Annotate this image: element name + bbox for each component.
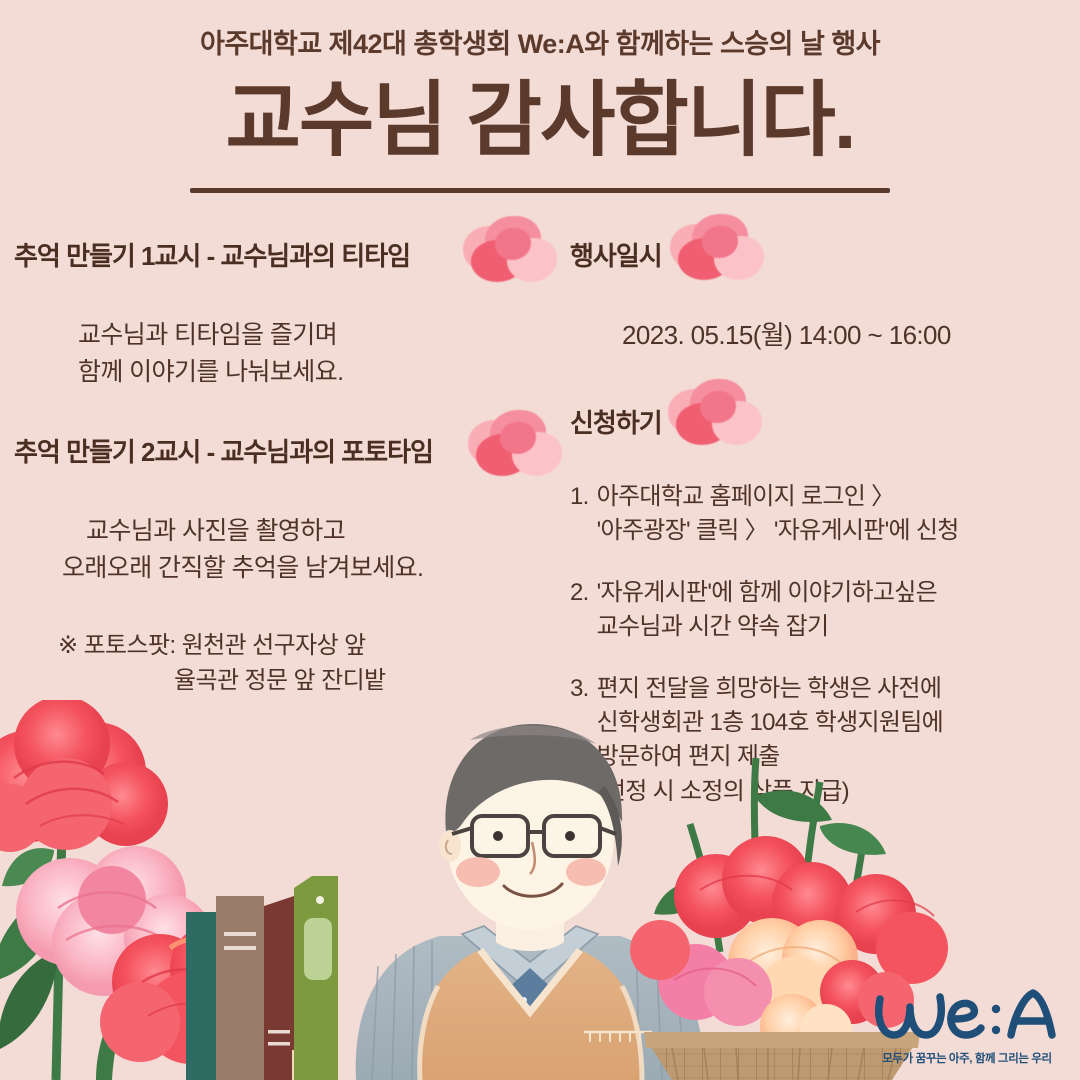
- left-column: 추억 만들기 1교시 - 교수님과의 티타임 교수님과 티타임을 즐기며 함께 …: [0, 236, 560, 698]
- session1-line-2: 함께 이야기를 나눠보세요.: [0, 354, 560, 391]
- stack-of-books: [186, 876, 338, 1080]
- datetime-value: 2023. 05.15(월) 14:00 ~ 16:00: [560, 317, 1080, 355]
- poster-title: 교수님 감사합니다.: [0, 78, 1080, 164]
- photospot-note-1: ※ 포토스팟: 원천관 선구자상 앞: [0, 628, 560, 663]
- teacher-illustration: [356, 724, 704, 1080]
- session1-heading: 추억 만들기 1교시 - 교수님과의 티타임: [14, 236, 560, 273]
- session2-heading: 추억 만들기 2교시 - 교수님과의 포토타임: [14, 432, 560, 469]
- photospot-note-2: 율곡관 정문 앞 잔디밭: [0, 663, 560, 698]
- list-item: 2. '자유게시판'에 함께 이야기하고싶은 교수님과 시간 약속 잡기: [560, 576, 1080, 644]
- wea-logo: 모두가 꿈꾸는 아주, 함께 그리는 우리: [872, 985, 1062, 1066]
- session1-line-1: 교수님과 티타임을 즐기며: [0, 317, 560, 354]
- list-item: 1. 아주대학교 홈페이지 로그인 〉 '아주광장' 클릭 〉 '자유게시판'에…: [560, 480, 1080, 548]
- poster-kicker: 아주대학교 제42대 총학생회 We:A와 함께하는 스승의 날 행사: [0, 22, 1080, 61]
- step-text: 아주대학교 홈페이지 로그인 〉 '아주광장' 클릭 〉 '자유게시판'에 신청: [597, 480, 1080, 548]
- step-number: 1.: [570, 480, 597, 548]
- wea-logo-mark: [872, 985, 1062, 1047]
- step-text: '자유게시판'에 함께 이야기하고싶은 교수님과 시간 약속 잡기: [597, 576, 1080, 644]
- session2-line-2: 오래오래 간직할 추억을 남겨보세요.: [0, 550, 560, 587]
- wea-logo-tagline: 모두가 꿈꾸는 아주, 함께 그리는 우리: [872, 1050, 1062, 1066]
- datetime-heading: 행사일시: [570, 236, 1080, 273]
- session2-line-1: 교수님과 사진을 촬영하고: [0, 513, 560, 550]
- apply-heading: 신청하기: [570, 403, 1080, 440]
- title-divider: [190, 188, 890, 193]
- poster-canvas: 아주대학교 제42대 총학생회 We:A와 함께하는 스승의 날 행사 교수님 …: [0, 0, 1080, 1080]
- step-number: 2.: [570, 576, 597, 644]
